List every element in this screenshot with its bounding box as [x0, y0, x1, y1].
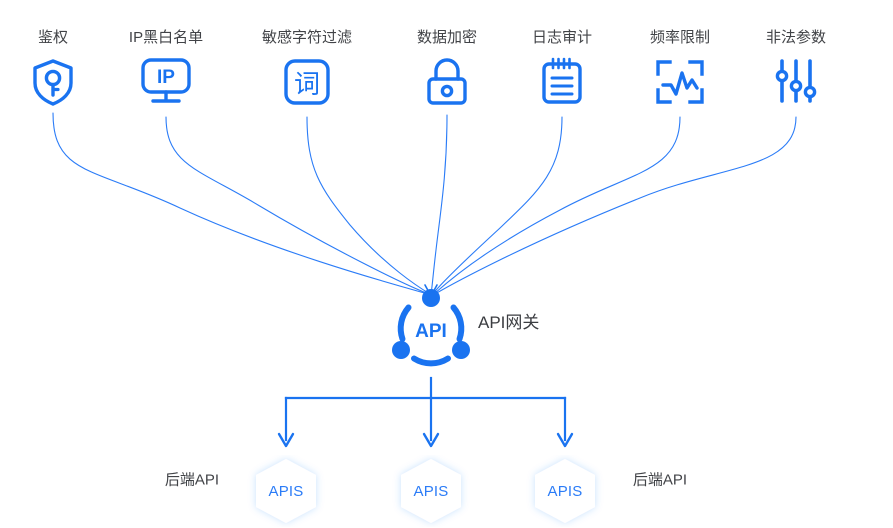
api-gateway-diagram: 鉴权 IP黑白名单 IP 敏感字符过滤 词 — [0, 0, 893, 528]
feature-node-sensitive-word-filter[interactable]: 敏感字符过滤 词 — [232, 28, 382, 108]
gateway-icon-text: API — [415, 321, 447, 342]
backend-service-label: APIS — [392, 455, 470, 527]
distribution-arrow-2 — [424, 434, 438, 446]
gateway-arc-right — [454, 308, 462, 340]
feature-label: 敏感字符过滤 — [232, 28, 382, 48]
feature-node-ip-allowlist[interactable]: IP黑白名单 IP — [91, 28, 241, 108]
gateway-dot-bottom-right — [452, 341, 470, 359]
connector-line-2 — [166, 117, 429, 294]
sliders-icon — [721, 56, 871, 108]
backend-service-label: APIS — [247, 455, 325, 527]
connector-line-5 — [433, 117, 562, 294]
backend-api-label-right: 后端API — [633, 469, 687, 490]
feature-node-illegal-parameter[interactable]: 非法参数 — [721, 28, 871, 108]
feature-label: IP黑白名单 — [91, 28, 241, 48]
svg-text:IP: IP — [157, 67, 175, 88]
connector-line-1 — [53, 113, 428, 294]
connector-line-3 — [307, 117, 430, 294]
backend-service-label: APIS — [526, 455, 604, 527]
connector-line-6 — [434, 117, 680, 294]
gateway-arc-bottom — [414, 359, 448, 364]
connector-line-7 — [435, 117, 796, 294]
distribution-arrow-1 — [279, 434, 293, 446]
gateway-dot-top — [422, 289, 440, 307]
api-gateway-node[interactable]: API — [388, 287, 474, 373]
ip-monitor-icon: IP — [91, 56, 241, 108]
connector-line-4 — [431, 115, 447, 294]
svg-text:词: 词 — [294, 70, 320, 100]
backend-api-label-left: 后端API — [165, 469, 219, 490]
gateway-dot-bottom-left — [392, 341, 410, 359]
distribution-arrowheads — [279, 434, 572, 446]
gateway-arc-left — [401, 308, 409, 340]
backend-service-node-2[interactable]: APIS — [392, 455, 470, 527]
distribution-arrow-3 — [558, 434, 572, 446]
feature-label: 非法参数 — [721, 28, 871, 48]
word-filter-icon: 词 — [232, 56, 382, 108]
backend-service-node-3[interactable]: APIS — [526, 455, 604, 527]
backend-service-node-1[interactable]: APIS — [247, 455, 325, 527]
api-gateway-label: API网关 — [478, 308, 539, 333]
